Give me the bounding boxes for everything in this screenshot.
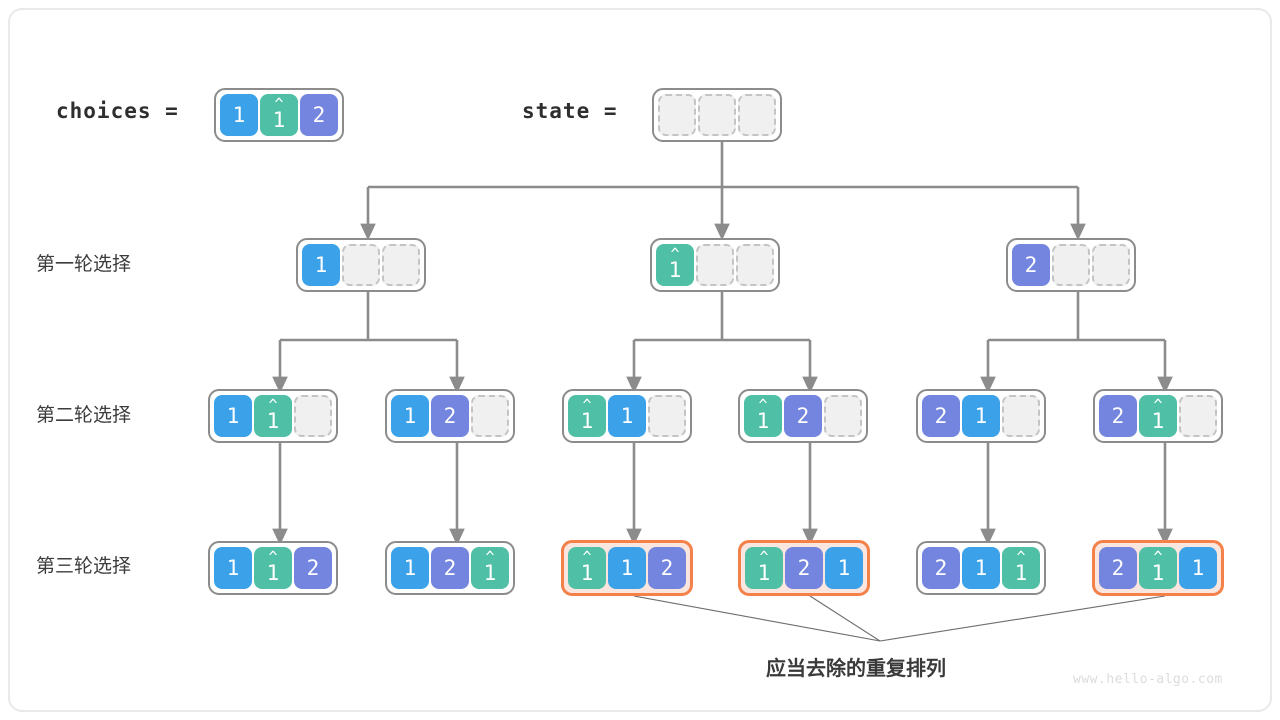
level1-node-0-cell-0: 1 (302, 244, 340, 286)
cell-value: 1 (227, 406, 240, 427)
choices-label: choices = (56, 99, 179, 123)
cell-value: 1 (838, 558, 851, 579)
cell-value: 1 (484, 563, 497, 584)
level1-node-0-cell-1-empty (342, 244, 380, 286)
cell-value: 2 (313, 105, 326, 126)
level3-node-0-cell-2: 2 (294, 547, 332, 589)
cell-value: 1 (757, 411, 770, 432)
cell-value: 1 (404, 558, 417, 579)
level1-node-2-cell-1-empty (1052, 244, 1090, 286)
cell-value: 1 (227, 558, 240, 579)
level3-node-3-cell-0: ^1 (745, 547, 783, 589)
cell-value: 2 (444, 558, 457, 579)
cell-value: 2 (444, 406, 457, 427)
level2-node-2-cell-0: ^1 (568, 395, 606, 437)
level2-node-5: 2^1 (1093, 389, 1223, 443)
level3-node-0: 1^12 (208, 541, 338, 595)
level2-node-0-cell-1: ^1 (254, 395, 292, 437)
level2-node-0-cell-2-empty (294, 395, 332, 437)
choices-array: 1^12 (214, 88, 344, 142)
cell-value: 1 (975, 406, 988, 427)
state-array-cell-2-empty (738, 94, 776, 136)
cell-value: 2 (661, 558, 674, 579)
state-array (652, 88, 782, 142)
level3-node-5-cell-2: 1 (1179, 547, 1217, 589)
row-label-round-3: 第三轮选择 (36, 551, 131, 578)
cell-value: 1 (621, 406, 634, 427)
level2-node-5-cell-0: 2 (1099, 395, 1137, 437)
tree-edges (0, 0, 1280, 720)
cell-value: 2 (798, 558, 811, 579)
cell-value: 1 (1192, 558, 1205, 579)
level3-node-2: ^112 (561, 540, 693, 596)
cell-value: 1 (273, 110, 286, 131)
cell-value: 1 (267, 411, 280, 432)
level2-node-2-cell-1: 1 (608, 395, 646, 437)
cell-value: 1 (1152, 563, 1165, 584)
level2-node-1-cell-1: 2 (431, 395, 469, 437)
level2-node-4-cell-2-empty (1002, 395, 1040, 437)
level3-node-4-cell-1: 1 (962, 547, 1000, 589)
diagram-canvas: choices = 1^12 state = 第一轮选择 第二轮选择 第三轮选择… (0, 0, 1280, 720)
level2-node-4-cell-1: 1 (962, 395, 1000, 437)
level1-node-1-cell-0: ^1 (656, 244, 694, 286)
level3-node-4-cell-2: ^1 (1002, 547, 1040, 589)
choices-array-cell-0: 1 (220, 94, 258, 136)
level2-node-3-cell-1: 2 (784, 395, 822, 437)
cell-value: 1 (621, 558, 634, 579)
choices-array-cell-1: ^1 (260, 94, 298, 136)
level3-node-1: 12^1 (385, 541, 515, 595)
level2-node-3: ^12 (738, 389, 868, 443)
cell-value: 2 (1112, 558, 1125, 579)
cell-value: 1 (233, 105, 246, 126)
level3-node-2-cell-1: 1 (608, 547, 646, 589)
level3-node-4-cell-0: 2 (922, 547, 960, 589)
level2-node-3-cell-2-empty (824, 395, 862, 437)
level2-node-5-cell-1: ^1 (1139, 395, 1177, 437)
level3-node-4: 21^1 (916, 541, 1046, 595)
level2-node-3-cell-0: ^1 (744, 395, 782, 437)
cell-value: 1 (1015, 563, 1028, 584)
level3-node-5-cell-1: ^1 (1139, 547, 1177, 589)
state-array-cell-0-empty (658, 94, 696, 136)
cell-value: 2 (1112, 406, 1125, 427)
level1-node-2-cell-0: 2 (1012, 244, 1050, 286)
state-array-cell-1-empty (698, 94, 736, 136)
row-label-round-1: 第一轮选择 (36, 249, 131, 276)
level3-node-2-cell-2: 2 (648, 547, 686, 589)
watermark: www.hello-algo.com (1073, 672, 1223, 687)
level1-node-0-cell-2-empty (382, 244, 420, 286)
cell-value: 1 (315, 255, 328, 276)
cell-value: 2 (797, 406, 810, 427)
level3-node-1-cell-2: ^1 (471, 547, 509, 589)
level3-node-3-cell-1: 2 (785, 547, 823, 589)
cell-value: 1 (581, 411, 594, 432)
state-label: state = (522, 99, 618, 123)
choices-array-cell-2: 2 (300, 94, 338, 136)
cell-value: 2 (307, 558, 320, 579)
level2-node-4: 21 (916, 389, 1046, 443)
level2-node-4-cell-0: 2 (922, 395, 960, 437)
row-label-round-2: 第二轮选择 (36, 400, 131, 427)
level2-node-5-cell-2-empty (1179, 395, 1217, 437)
level3-node-1-cell-0: 1 (391, 547, 429, 589)
level3-node-5: 2^11 (1092, 540, 1224, 596)
level2-node-0: 1^1 (208, 389, 338, 443)
cell-value: 1 (404, 406, 417, 427)
level1-node-2-cell-2-empty (1092, 244, 1130, 286)
cell-value: 2 (935, 406, 948, 427)
level2-node-1-cell-0: 1 (391, 395, 429, 437)
level3-node-3: ^121 (738, 540, 870, 596)
level1-node-1: ^1 (650, 238, 780, 292)
caption-duplicate-permutations: 应当去除的重复排列 (766, 652, 946, 681)
level3-node-1-cell-1: 2 (431, 547, 469, 589)
level1-node-2: 2 (1006, 238, 1136, 292)
level2-node-0-cell-0: 1 (214, 395, 252, 437)
cell-value: 1 (1152, 411, 1165, 432)
cell-value: 2 (935, 558, 948, 579)
cell-value: 1 (758, 563, 771, 584)
level3-node-0-cell-1: ^1 (254, 547, 292, 589)
level2-node-2-cell-2-empty (648, 395, 686, 437)
level2-node-1: 12 (385, 389, 515, 443)
cell-value: 2 (1025, 255, 1038, 276)
cell-value: 1 (975, 558, 988, 579)
level2-node-1-cell-2-empty (471, 395, 509, 437)
level1-node-0: 1 (296, 238, 426, 292)
cell-value: 1 (669, 260, 682, 281)
level3-node-0-cell-0: 1 (214, 547, 252, 589)
level2-node-2: ^11 (562, 389, 692, 443)
level3-node-5-cell-0: 2 (1099, 547, 1137, 589)
cell-value: 1 (581, 563, 594, 584)
level1-node-1-cell-1-empty (696, 244, 734, 286)
cell-value: 1 (267, 563, 280, 584)
level1-node-1-cell-2-empty (736, 244, 774, 286)
level3-node-2-cell-0: ^1 (568, 547, 606, 589)
level3-node-3-cell-2: 1 (825, 547, 863, 589)
